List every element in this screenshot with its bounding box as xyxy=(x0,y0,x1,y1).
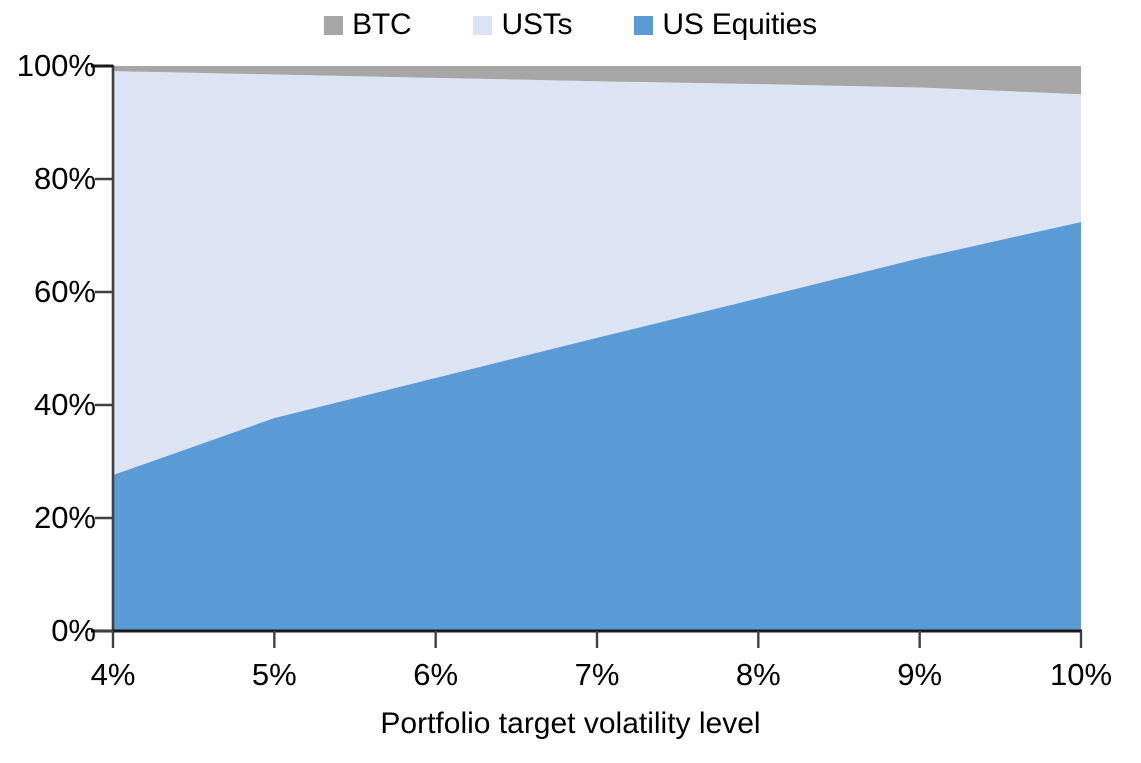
x-axis-tick-label: 10% xyxy=(1050,659,1112,690)
x-axis-tick-label: 9% xyxy=(897,659,942,690)
x-axis-tick-label: 8% xyxy=(736,659,781,690)
x-axis-tick-label: 7% xyxy=(575,659,620,690)
x-axis-tick-label: 4% xyxy=(91,659,136,690)
x-axis-tick-label: 5% xyxy=(252,659,297,690)
x-axis-tick-labels: 4%5%6%7%8%9%10% xyxy=(0,0,1141,763)
x-axis-title: Portfolio target volatility level xyxy=(0,706,1141,742)
plot-area: 0%20%40%60%80%100% 4%5%6%7%8%9%10% xyxy=(0,0,1141,763)
stacked-area-chart: BTC USTs US Equities 0%20%40%60%80%100% … xyxy=(0,0,1141,763)
x-axis-tick-label: 6% xyxy=(413,659,458,690)
